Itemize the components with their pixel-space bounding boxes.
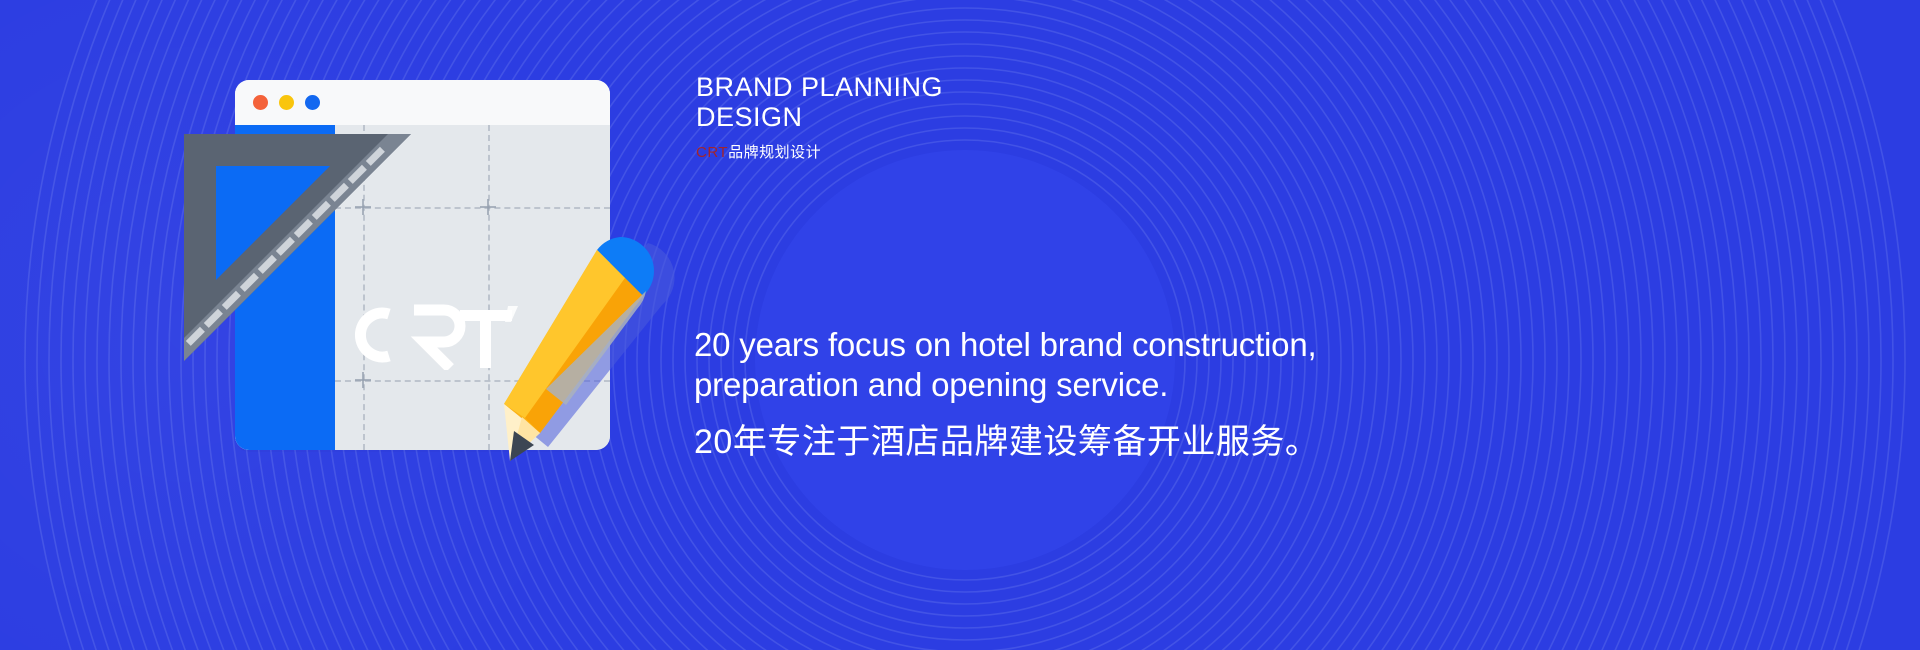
triangle-ruler-icon [180, 130, 415, 365]
tagline-english-line-2: preparation and opening service. [694, 365, 1394, 405]
maximize-dot-icon [305, 95, 320, 110]
close-dot-icon [253, 95, 268, 110]
tagline-english-line-1: 20 years focus on hotel brand constructi… [694, 325, 1394, 365]
window-titlebar [235, 80, 610, 125]
design-illustration [180, 75, 700, 475]
subhead-line: CRT品牌规划设计 [696, 141, 1256, 162]
guide-crosshair-2 [355, 372, 371, 388]
promo-banner: BRAND PLANNING DESIGN CRT品牌规划设计 20 years… [0, 0, 1920, 650]
headline-block: BRAND PLANNING DESIGN CRT品牌规划设计 [696, 72, 1256, 162]
minimize-dot-icon [279, 95, 294, 110]
subhead-chinese: 品牌规划设计 [728, 144, 821, 161]
headline-title: BRAND PLANNING DESIGN [696, 72, 1256, 132]
guide-crosshair-3 [480, 199, 496, 215]
window-control-dots [253, 95, 320, 110]
subhead-brand: CRT [696, 144, 728, 161]
pencil-icon [470, 225, 700, 485]
tagline-chinese: 20年专注于酒店品牌建设筹备开业服务。 [694, 421, 1394, 463]
tagline-block: 20 years focus on hotel brand constructi… [694, 325, 1394, 463]
